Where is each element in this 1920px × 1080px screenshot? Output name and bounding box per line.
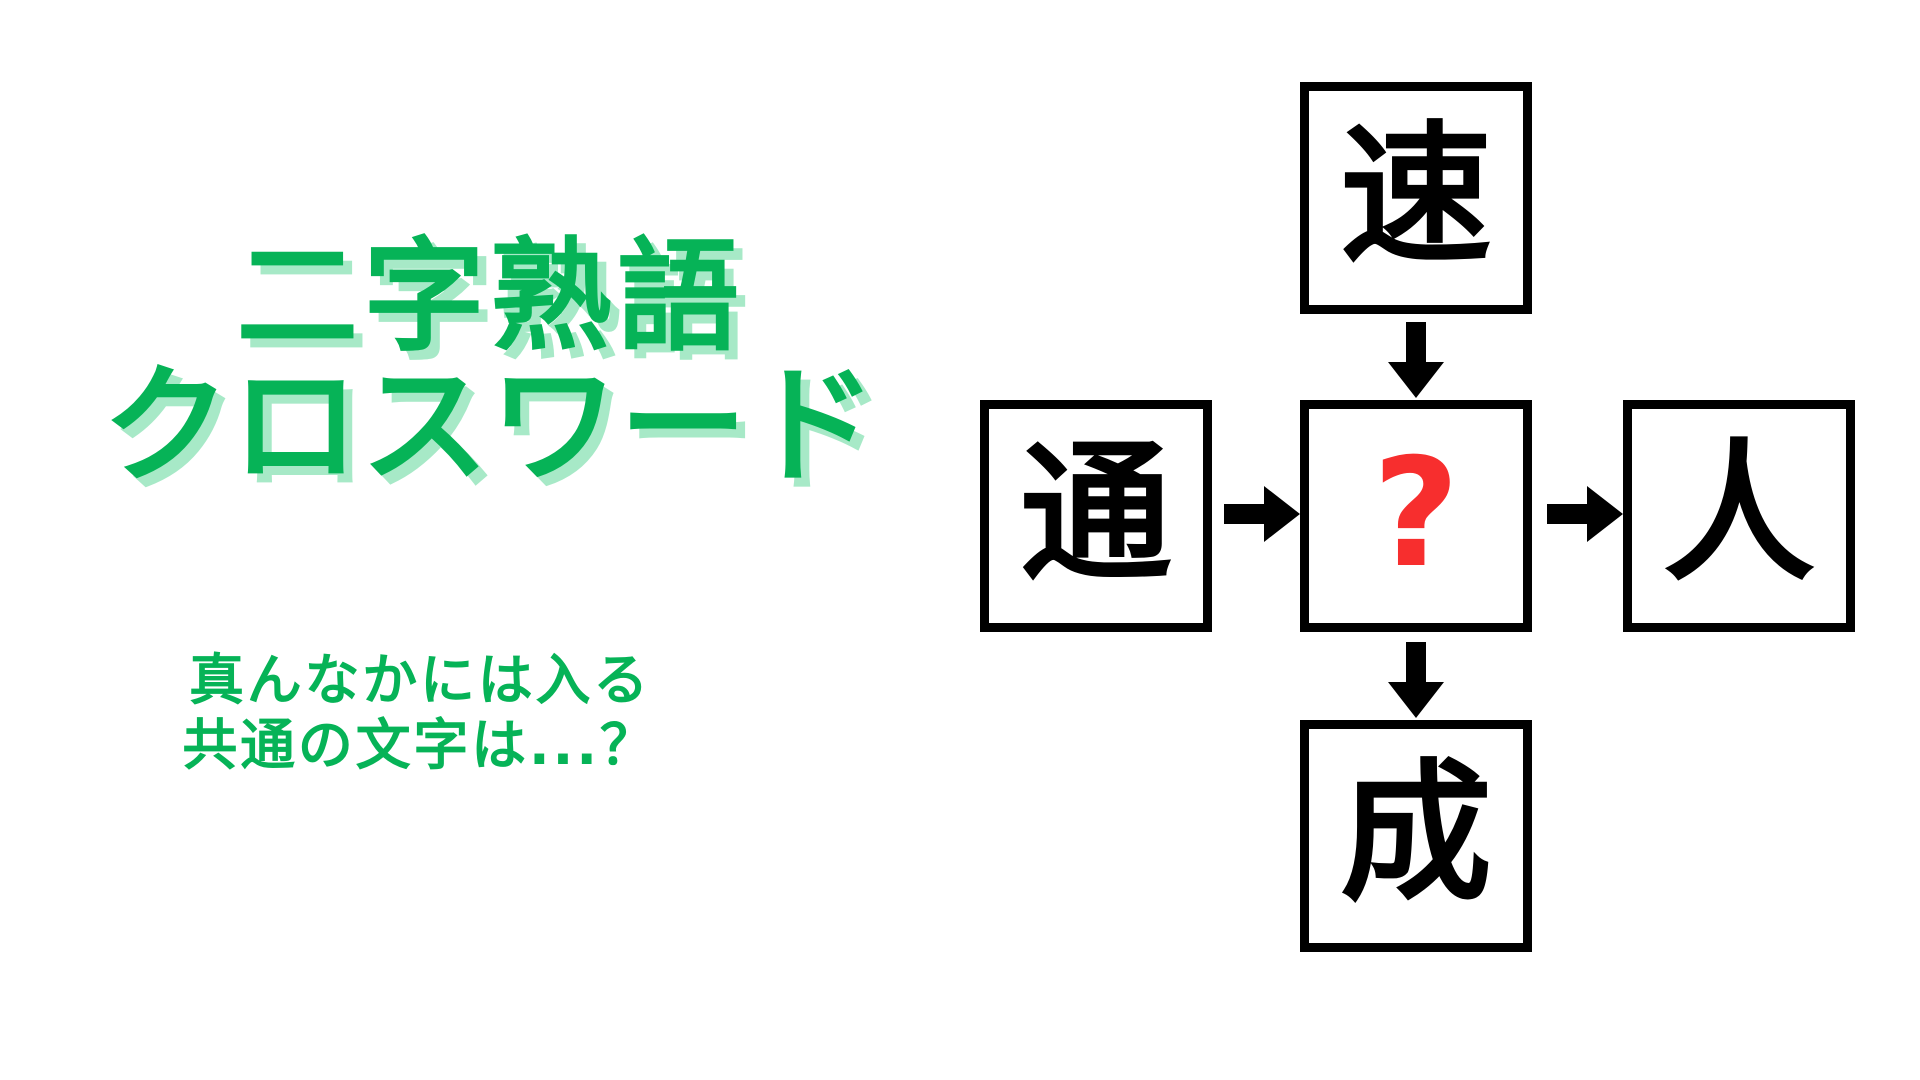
puzzle-cell-left-label: 通 (1020, 438, 1172, 590)
subheadline-line-2: 共通の文字は...？ (0, 713, 840, 778)
subheadline-line-1: 真んなかには入る (0, 648, 840, 713)
arrow-right-icon (1547, 486, 1623, 542)
subheadline-block: 真んなかには入る 共通の文字は...？ (0, 648, 840, 778)
puzzle-cell-center-answer[interactable]: ? (1300, 400, 1532, 632)
puzzle-cell-right: 人 (1623, 400, 1855, 632)
arrow-right-icon (1224, 486, 1300, 542)
arrow-down-icon (1388, 322, 1444, 398)
puzzle-cell-bottom: 成 (1300, 720, 1532, 952)
headline-line-2: クロスワード (0, 358, 980, 496)
puzzle-cell-left: 通 (980, 400, 1212, 632)
puzzle-cell-bottom-label: 成 (1340, 758, 1492, 910)
puzzle-cell-right-label: 人 (1663, 438, 1815, 590)
puzzle-cell-top: 速 (1300, 82, 1532, 314)
arrow-down-icon (1388, 642, 1444, 718)
question-mark-label: ? (1372, 439, 1459, 589)
puzzle-cell-top-label: 速 (1340, 120, 1492, 272)
kanji-crossword-diagram: 速 通 ? 人 成 (980, 60, 1900, 1020)
headline-block: 二字熟語 クロスワード (0, 232, 980, 496)
headline-line-1: 二字熟語 (0, 232, 980, 364)
poster-root: 二字熟語 クロスワード 真んなかには入る 共通の文字は...？ 速 通 ? 人 … (0, 0, 1920, 1080)
